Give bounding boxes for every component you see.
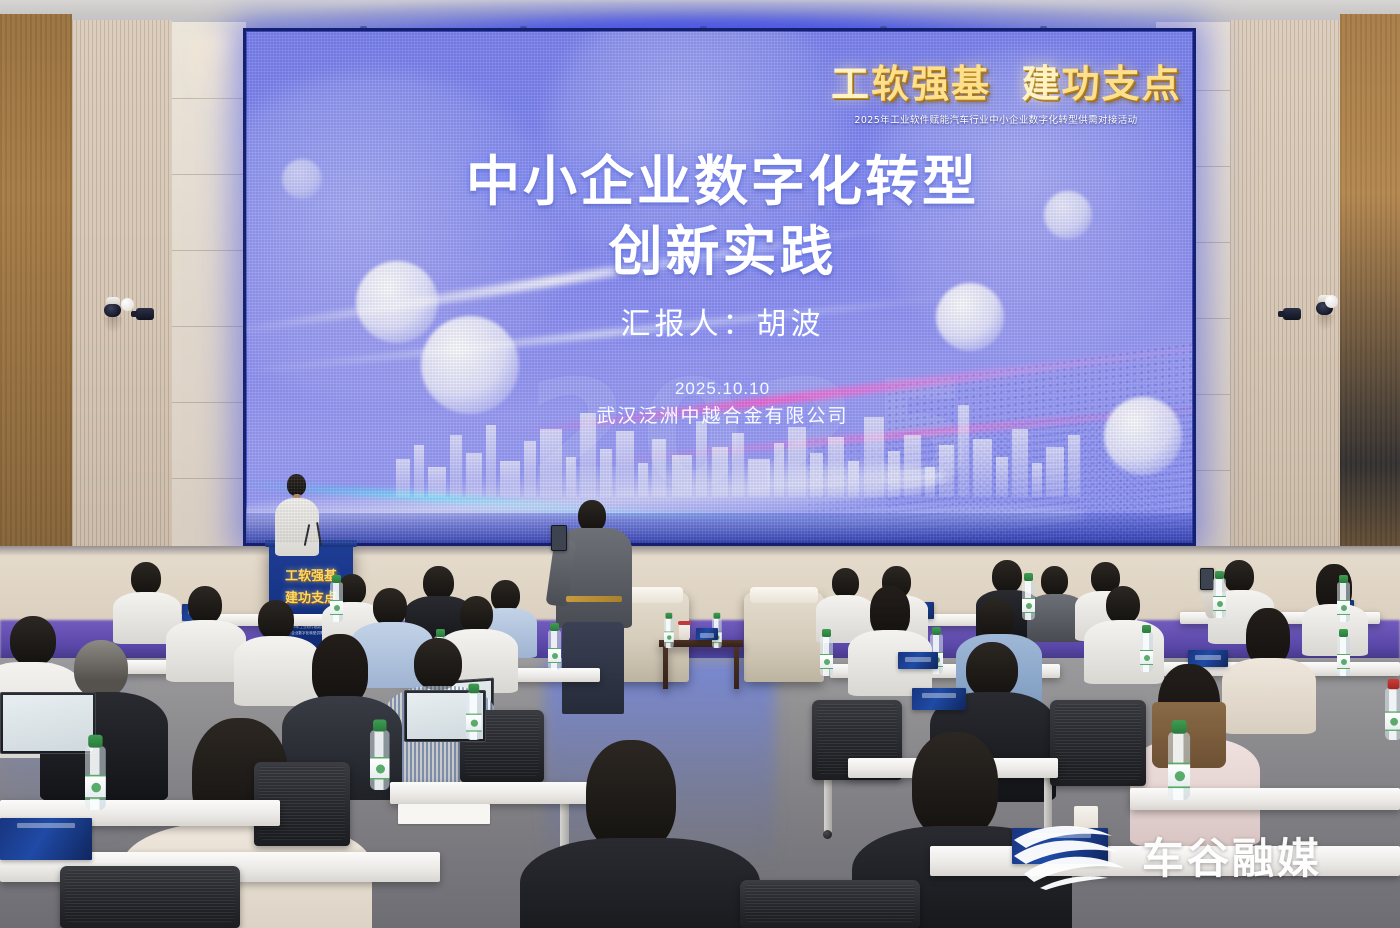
document-paper xyxy=(398,804,490,824)
water-bottle xyxy=(85,746,106,810)
watermark-text: 车谷融媒 xyxy=(1142,825,1322,886)
table-name-card xyxy=(696,628,718,640)
water-bottle xyxy=(1168,732,1190,800)
water-bottle xyxy=(1337,582,1350,622)
table-caster xyxy=(823,830,832,839)
water-bottle xyxy=(330,582,343,622)
presentation-company: 武汉泛洲中越合金有限公司 xyxy=(246,401,1196,428)
event-logo-line2-rest: 功支点 xyxy=(1062,62,1182,106)
laptop-screen[interactable] xyxy=(0,692,96,754)
water-bottle xyxy=(548,630,561,670)
presenter-name: 汇报人：胡波 xyxy=(246,299,1196,343)
water-bottle xyxy=(1337,636,1350,676)
water-bottle xyxy=(466,692,482,740)
event-logo-char-jian: 建 xyxy=(1022,62,1062,106)
wall-mounted-sensor-right xyxy=(1283,308,1301,320)
event-logo-line1-rest: 软强基 xyxy=(871,62,991,106)
stage-wall-shadow xyxy=(0,546,1400,556)
table-name-card xyxy=(912,688,966,710)
presentation-date: 2025.10.10 xyxy=(246,379,1196,399)
event-logo-line-1: 工软强基 建功支点 xyxy=(831,53,1161,108)
presenter-torso xyxy=(275,498,319,556)
wall-wood-panel-left xyxy=(0,14,72,614)
audience-chair-foreground xyxy=(740,880,920,928)
water-bottle xyxy=(1213,578,1226,618)
water-bottle xyxy=(1385,688,1400,740)
camera-device xyxy=(551,525,567,551)
table-name-card xyxy=(0,818,92,860)
table-name-card xyxy=(898,652,938,669)
smartphone xyxy=(1200,568,1214,590)
conference-photo-scene: 2025 xyxy=(0,0,1400,928)
wall-sensor-disc-right xyxy=(1325,295,1338,308)
swoosh-logo-icon xyxy=(1012,818,1130,892)
led-presentation-screen[interactable]: 2025 xyxy=(243,28,1196,546)
presenter-head xyxy=(287,474,306,496)
videographer-belt-stripe xyxy=(566,596,622,602)
screen-bottom-gradient xyxy=(246,513,1196,543)
water-bottle xyxy=(820,636,833,676)
audience-chair xyxy=(1050,700,1146,786)
audience-chair-foreground xyxy=(60,866,240,928)
wall-sensor-disc-left xyxy=(121,298,134,311)
coffee-cup xyxy=(679,624,690,640)
presentation-title-line2: 创新实践 xyxy=(246,207,1196,286)
wall-wood-panel-right xyxy=(1340,14,1400,614)
event-logo-char-gong: 工 xyxy=(831,62,871,106)
armchair-right xyxy=(744,592,824,682)
water-bottle xyxy=(664,618,674,648)
presentation-title-line1: 中小企业数字化转型 xyxy=(246,137,1196,216)
event-logo: 工软强基 建功支点 2025年工业软件赋能汽车行业中小企业数字化转型供需对接活动 xyxy=(831,53,1161,126)
side-table-leg xyxy=(734,647,739,689)
water-bottle xyxy=(1140,632,1153,672)
wall-mounted-sensor-left xyxy=(136,308,154,320)
water-bottle xyxy=(1022,580,1035,620)
broadcaster-watermark: 车谷融媒 xyxy=(1012,818,1322,892)
event-logo-subtitle: 2025年工业软件赋能汽车行业中小企业数字化转型供需对接活动 xyxy=(831,112,1161,126)
conference-table xyxy=(390,782,610,804)
side-table-leg xyxy=(663,647,668,689)
water-bottle xyxy=(370,730,390,790)
